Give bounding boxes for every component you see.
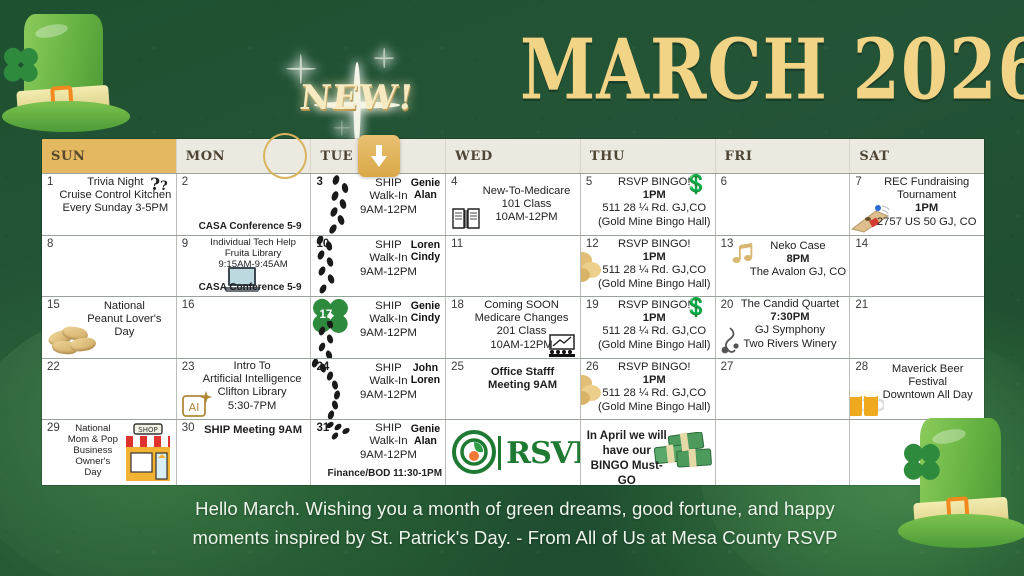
down-arrow-icon [358,135,400,177]
day-number: 21 [855,299,868,311]
day-event-text: The Candid Quartet 7:30PM GJ Symphony Tw… [734,298,847,351]
empty-cell-2 [850,420,984,485]
day-cell-18[interactable]: 18 Coming SOON Medicare Changes 201 Clas… [446,297,581,358]
day-number: 18 [451,299,464,311]
day-cell-8[interactable]: 8 [42,236,177,296]
day-cell-1[interactable]: 1 Trivia Night Cruise Control Kitchen Ev… [42,174,177,235]
day-cell-12[interactable]: 12 RSVP BINGO! 1PM 511 28 ¼ Rd. GJ,CO (G… [581,236,716,296]
promo-message: In April we will have our BINGO Must-GO … [585,428,669,485]
day-number: 3 [316,176,322,188]
day-event-text: National Mom & Pop Business Owner's Day [60,423,126,478]
day-event-text: Individual Tech Help Fruita Library 9:15… [199,237,308,270]
day-number: 11 [451,238,463,250]
day-number: 16 [182,299,195,311]
day-cell-21[interactable]: 21 [850,297,984,358]
day-cell-11[interactable]: 11 [446,236,581,296]
day-cell-15[interactable]: 15 National Peanut Lover's Day [42,297,177,358]
sparkle-icon [334,120,350,136]
day-number: 22 [47,361,60,373]
day-event-text: Intro To Artificial Intelligence Clifton… [197,360,308,413]
weekday-header-wed: WED [446,139,581,173]
day-event-staff-names: John Loren [411,362,440,387]
day-event-staff-names: Genie Cindy [411,300,440,325]
day-number: 2 [182,176,188,188]
day-event-text: Neko Case 8PM The Avalon GJ, CO [750,240,847,280]
page-title: MARCH 2026 [520,29,990,112]
day-number: 28 [855,361,868,373]
day-cell-20[interactable]: 20 The Candid Quartet 7:30PM GJ Symphony… [716,297,851,358]
day-cell-7[interactable]: 7 REC Fundraising Tournament 1PM 2757 US… [850,174,984,235]
day-event-note: Finance/BOD 11:30-1PM [327,467,442,480]
rsvp-logo-icon [452,430,496,474]
day-number: 25 [451,361,464,373]
calendar-grid: SUN MON TUE WED THU FRI SAT 1 Trivia Nig… [42,139,984,485]
day-cell-3[interactable]: 3 SHIP Walk-In 9AM-12PM [311,174,446,235]
day-number: 20 [721,299,734,311]
day-event-staff-names: Genie Alan [411,423,440,448]
new-badge-label: NEW! [298,78,416,118]
calendar-week-row: 29 National Mom & Pop Business Owner's D… [42,419,984,485]
weekday-header-fri: FRI [716,139,851,173]
day-event-text: National Peanut Lover's Day [76,300,173,340]
day-cell-25[interactable]: 25 Office Stafff Meeting 9AM [446,359,581,419]
day-event-text: RSVP BINGO! 1PM 511 28 ¼ Rd. GJ,CO (Gold… [597,238,712,291]
weekday-header-row: SUN MON TUE WED THU FRI SAT [42,139,984,173]
day-cell-27[interactable]: 27 [716,359,851,419]
day-cell-17[interactable]: 17 SHIP Walk-In 9AM-12PM Gen [311,297,446,358]
day-number: 29 [47,422,60,434]
day-event-staff-names: Genie Alan [411,177,440,202]
footer-line-1: Hello March. Wishing you a month of gree… [110,494,920,523]
day-cell-5[interactable]: 5 RSVP BINGO! 1PM 511 28 ¼ Rd. GJ,CO (Go… [581,174,716,235]
day-number: 19 [586,299,599,311]
day-number: 30 [182,422,195,434]
logo-divider [498,436,501,470]
day-number: 26 [586,361,599,373]
day-cell-30[interactable]: 30 SHIP Meeting 9AM [177,420,312,485]
day-number: 24 [316,361,329,373]
day-number: 13 [721,238,734,250]
day-event-text: New-To-Medicare 101 Class 10AM-12PM [476,185,577,225]
day-event-text: RSVP BINGO! 1PM 511 28 ¼ Rd. GJ,CO (Gold… [597,299,712,352]
day-number: 9 [182,238,188,250]
day-event-text: RSVP BINGO! 1PM 511 28 ¼ Rd. GJ,CO (Gold… [597,361,712,414]
footer-message: Hello March. Wishing you a month of gree… [110,494,920,552]
day-number: 27 [721,361,734,373]
footer-line-2: moments inspired by St. Patrick's Day. -… [110,523,920,552]
day-event-text: Coming SOON Medicare Changes 201 Class 1… [466,299,577,352]
weekday-header-sun: SUN [42,139,177,173]
clover-icon [4,48,38,82]
day-event-staff-names: Loren Cindy [411,239,440,264]
day-cell-26[interactable]: 26 RSVP BINGO! 1PM 511 28 ¼ Rd. GJ,CO (G… [581,359,716,419]
day-number: 7 [855,176,861,188]
weekday-header-sat: SAT [850,139,984,173]
day-cell-19[interactable]: 19 RSVP BINGO! 1PM 511 28 ¼ Rd. GJ,CO (G… [581,297,716,358]
sparkle-icon [374,48,394,68]
rsvp-logo-text: RSVP [506,436,581,471]
day-number: 1 [47,176,53,188]
day-number: 10 [316,238,329,250]
day-event-text: RSVP BINGO! 1PM 511 28 ¼ Rd. GJ,CO (Gold… [597,176,712,229]
calendar-week-row: 22 23 Intro To Artificial Intelligence C… [42,358,984,419]
day-cell-13[interactable]: 13 Neko Case 8PM The Avalon GJ, CO [716,236,851,296]
leprechaun-hat-top-left-icon [2,14,130,132]
weekday-header-thu: THU [581,139,716,173]
day-cell-31[interactable]: 31 SHIP Walk-In 9AM-12PM Genie [311,420,446,485]
day-number: 6 [721,176,727,188]
day-number: 12 [586,238,599,250]
day-event-text: SHIP Meeting 9AM [199,424,308,437]
day-cell-23[interactable]: 23 Intro To Artificial Intelligence Clif… [177,359,312,419]
calendar-week-row: 15 National Peanut Lover's Day 16 [42,296,984,358]
calendar-week-row: 8 9 Individual Tech Help Fruita Library … [42,235,984,296]
day-cell-29[interactable]: 29 National Mom & Pop Business Owner's D… [42,420,177,485]
calendar-page: MARCH 2026 NEW! SUN MON TUE WED THU FRI … [0,0,1024,576]
empty-cell-1 [716,420,851,485]
promo-text-cell: In April we will have our BINGO Must-GO … [581,420,716,485]
day-number: 14 [855,238,868,250]
day-number: 31 [316,422,329,434]
day-cell-4[interactable]: 4 New-To-Medicare 101 Class 10AM-12PM [446,174,581,235]
day-cell-14[interactable]: 14 [850,236,984,296]
day-event-text: Trivia Night Cruise Control Kitchen Ever… [58,176,173,216]
day-cell-6[interactable]: 6 [716,174,851,235]
day-cell-10[interactable]: 10 SHIP Walk-In 9AM-12PM [311,236,446,296]
day-cell-24[interactable]: 24 SHIP Walk-In 9AM-12PM [311,359,446,419]
day-cell-28[interactable]: 28 Maverick Beer Festival Downtown All D… [850,359,984,419]
day-event-note: CASA Conference 5-9 [193,220,308,233]
day-number: 5 [586,176,592,188]
svg-text:SHOP: SHOP [138,426,157,434]
weekday-header-mon: MON [177,139,312,173]
day-number: 15 [47,299,60,311]
day-event-text: Office Stafff Meeting 9AM [468,366,577,392]
promo-logo-cell: RSVP [446,420,581,485]
day-number: 8 [47,238,53,250]
day-cell-16[interactable]: 16 [177,297,312,358]
day-event-note: CASA Conference 5-9 [193,281,308,294]
day-event-text: REC Fundraising Tournament 1PM 2757 US 5… [872,176,981,229]
day-cell-22[interactable]: 22 [42,359,177,419]
shop-storefront-icon: SHOP [122,422,174,484]
day-number: 17 [319,309,332,321]
calendar-week-row: 1 Trivia Night Cruise Control Kitchen Ev… [42,173,984,235]
new-badge: NEW! [300,78,414,118]
day-cell-2[interactable]: 2 CASA Conference 5-9 [177,174,312,235]
day-number: 23 [182,361,195,373]
day-cell-9[interactable]: 9 Individual Tech Help Fruita Library 9:… [177,236,312,296]
day-number: 4 [451,176,457,188]
day-event-text: Maverick Beer Festival Downtown All Day [874,363,981,403]
